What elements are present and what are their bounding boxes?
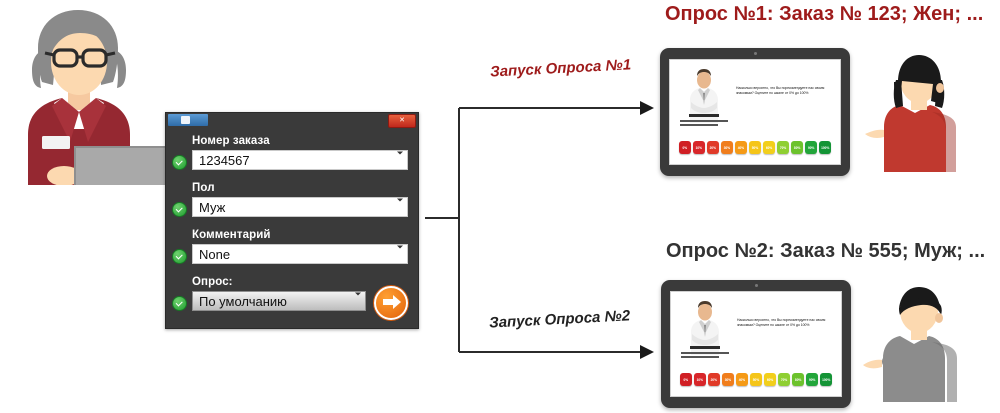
field-comment: Комментарий None	[192, 229, 408, 264]
field-gender: Пол Муж	[192, 182, 408, 217]
arrow-right-icon	[640, 345, 654, 359]
tablet-survey-2: Насколько вероятно, что Вы порекомендует…	[661, 280, 851, 408]
tablet-screen: Насколько вероятно, что Вы порекомендует…	[669, 59, 841, 165]
order-number-input[interactable]: 1234567	[192, 150, 408, 170]
field-label: Пол	[192, 182, 408, 194]
presenter-photo	[683, 300, 727, 355]
scale-button-20[interactable]: 20%	[707, 141, 719, 154]
close-icon[interactable]: ✕	[388, 114, 416, 128]
green-check-icon	[172, 249, 187, 264]
tablet-screen: Насколько вероятно, что Вы порекомендует…	[670, 291, 842, 397]
field-label: Номер заказа	[192, 135, 408, 147]
result-heading-2: Опрос №2: Заказ № 555; Муж; ...	[666, 240, 985, 263]
field-label: Комментарий	[192, 229, 408, 241]
scale-button-100[interactable]: 100%	[819, 141, 831, 154]
respondent-man-illustration	[862, 284, 980, 402]
field-label: Опрос:	[192, 276, 366, 288]
scale-button-70[interactable]: 70%	[777, 141, 789, 154]
scale-button-20[interactable]: 20%	[708, 373, 720, 386]
survey-scale-1: 0%10%20%30%40%50%60%70%80%90%100%	[679, 141, 831, 154]
survey-scale-2: 0%10%20%30%40%50%60%70%80%90%100%	[680, 373, 832, 386]
scale-button-80[interactable]: 80%	[791, 141, 803, 154]
scale-button-40[interactable]: 40%	[736, 373, 748, 386]
survey-select[interactable]: По умолчанию	[192, 291, 366, 311]
scale-button-80[interactable]: 80%	[792, 373, 804, 386]
branch-top-label: Запуск Опроса №1	[490, 56, 632, 80]
dialog-titlebar[interactable]: ✕	[166, 113, 418, 128]
survey-question: Насколько вероятно, что Вы порекомендует…	[737, 318, 833, 328]
result-heading-1: Опрос №1: Заказ № 123; Жен; ...	[665, 3, 983, 26]
app-icon	[168, 114, 208, 126]
scale-button-90[interactable]: 90%	[805, 141, 817, 154]
scale-button-50[interactable]: 50%	[750, 373, 762, 386]
presenter-caption	[681, 352, 729, 359]
field-order-number: Номер заказа 1234567	[192, 135, 408, 170]
green-check-icon	[172, 155, 187, 170]
scale-button-60[interactable]: 60%	[763, 141, 775, 154]
presenter-caption	[680, 120, 728, 127]
survey-launcher-dialog: ✕ Номер заказа 1234567 Пол Муж Комментар…	[165, 112, 419, 329]
scale-button-0[interactable]: 0%	[680, 373, 692, 386]
respondent-woman-illustration	[862, 52, 980, 172]
arrow-right-icon	[640, 101, 654, 115]
arrow-right-icon	[383, 299, 394, 305]
comment-input[interactable]: None	[192, 244, 408, 264]
scale-button-0[interactable]: 0%	[679, 141, 691, 154]
chevron-down-icon[interactable]	[397, 151, 403, 154]
scale-button-50[interactable]: 50%	[749, 141, 761, 154]
tablet-survey-1: Насколько вероятно, что Вы порекомендует…	[660, 48, 850, 176]
close-label: ✕	[389, 115, 415, 126]
scale-button-30[interactable]: 30%	[722, 373, 734, 386]
chevron-down-icon[interactable]	[355, 292, 361, 295]
green-check-icon	[172, 202, 187, 217]
scale-button-30[interactable]: 30%	[721, 141, 733, 154]
scale-button-10[interactable]: 10%	[693, 141, 705, 154]
scale-button-90[interactable]: 90%	[806, 373, 818, 386]
survey-question: Насколько вероятно, что Вы порекомендует…	[736, 86, 832, 96]
operator-illustration	[0, 0, 175, 185]
gender-input[interactable]: Муж	[192, 197, 408, 217]
scale-button-40[interactable]: 40%	[735, 141, 747, 154]
green-check-icon	[172, 296, 187, 311]
run-survey-button[interactable]	[374, 286, 408, 320]
scale-button-70[interactable]: 70%	[778, 373, 790, 386]
camera-icon	[755, 284, 758, 287]
chevron-down-icon[interactable]	[397, 245, 403, 248]
field-survey: Опрос: По умолчанию	[192, 276, 366, 311]
scale-button-100[interactable]: 100%	[820, 373, 832, 386]
presenter-photo	[682, 68, 726, 123]
chevron-down-icon[interactable]	[397, 198, 403, 201]
scale-button-60[interactable]: 60%	[764, 373, 776, 386]
scale-button-10[interactable]: 10%	[694, 373, 706, 386]
camera-icon	[754, 52, 757, 55]
